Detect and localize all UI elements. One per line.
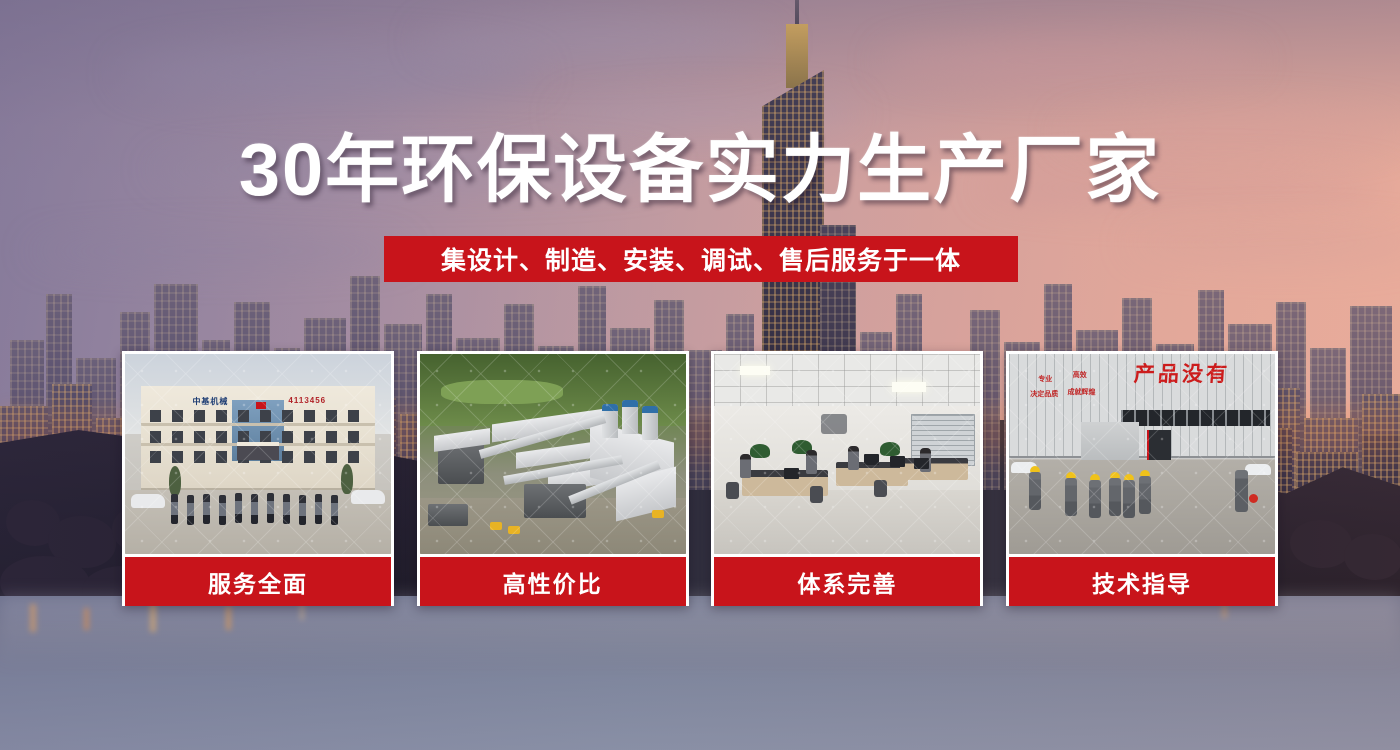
feature-card[interactable]: 产品没有 专业 高效 决定品质 成就辉煌 <box>1006 351 1278 606</box>
feature-card[interactable]: 高性价比 <box>417 351 689 606</box>
card-label-text: 高性价比 <box>503 565 603 599</box>
building-phone-text: 4113456 <box>288 396 326 405</box>
card-label-bar: 服务全面 <box>125 557 391 606</box>
feature-card[interactable]: 体系完善 <box>711 351 983 606</box>
feature-card[interactable]: 中基机械 4113456 <box>122 351 394 606</box>
card-label-text: 技术指导 <box>1092 565 1192 599</box>
river-mist <box>0 596 1400 666</box>
factory-sign-text: 产品没有 <box>1133 358 1231 388</box>
card-label-bar: 体系完善 <box>714 557 980 606</box>
page-title: 30年环保设备实力生产厂家 <box>0 133 1400 207</box>
workshop-team-photo: 产品没有 专业 高效 决定品质 成就辉煌 <box>1009 354 1275 554</box>
office-workspace-photo <box>714 354 980 554</box>
card-label-bar: 高性价比 <box>420 557 686 606</box>
card-label-text: 体系完善 <box>797 565 897 599</box>
feature-card-row: 中基机械 4113456 <box>122 351 1278 606</box>
factory-slogan-4: 成就辉煌 <box>1067 387 1095 397</box>
hero-banner-stage: 30年环保设备实力生产厂家 集设计、制造、安装、调试、售后服务于一体 <box>0 0 1400 750</box>
tower-crown <box>786 24 808 88</box>
factory-slogan-3: 决定品质 <box>1030 389 1058 399</box>
card-label-bar: 技术指导 <box>1009 557 1275 606</box>
card-label-text: 服务全面 <box>208 565 308 599</box>
subtitle-banner: 集设计、制造、安装、调试、售后服务于一体 <box>384 236 1018 282</box>
factory-slogan-1: 专业 <box>1038 374 1052 384</box>
company-headquarters-photo: 中基机械 4113456 <box>125 354 391 554</box>
building-sign-text: 中基机械 <box>192 396 228 407</box>
production-plant-aerial-photo <box>420 354 686 554</box>
factory-slogan-2: 高效 <box>1073 370 1087 380</box>
subtitle-text: 集设计、制造、安装、调试、售后服务于一体 <box>441 241 961 277</box>
